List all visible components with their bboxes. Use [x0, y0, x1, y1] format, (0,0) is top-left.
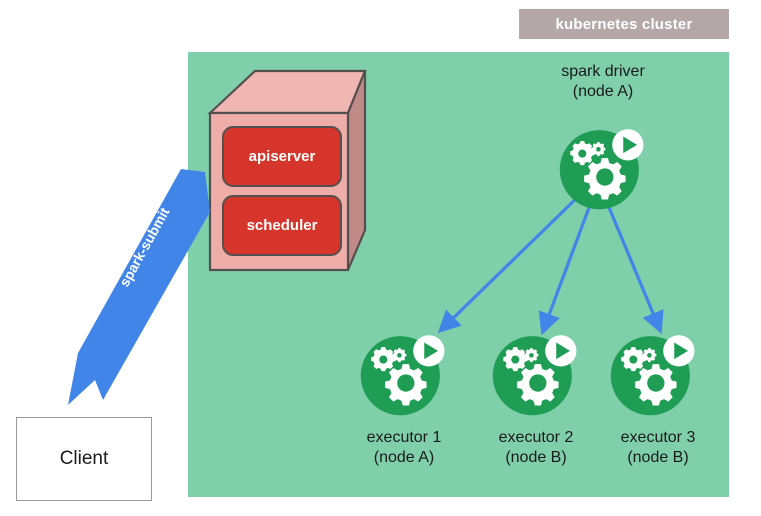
client-box[interactable]: Client — [16, 417, 152, 501]
executor-3-subtitle: (node B) — [578, 448, 738, 468]
executor-3-small-gear — [621, 347, 645, 371]
spark-driver-subtitle: (node A) — [523, 82, 683, 102]
executor-2-node[interactable] — [490, 326, 582, 418]
executor-1-small-gear — [371, 347, 395, 371]
executor-3-title: executor 3 — [578, 428, 738, 448]
driver-small-gear — [570, 141, 594, 165]
cluster-title-chip: kubernetes cluster — [519, 9, 729, 39]
spark-driver-node[interactable] — [557, 120, 649, 212]
cube-top-face — [210, 71, 365, 113]
cluster-title-label: kubernetes cluster — [556, 16, 693, 33]
executor-1-tiny-gear — [392, 348, 406, 362]
client-label: Client — [60, 448, 109, 470]
spark-driver-title: spark driver — [523, 62, 683, 82]
executor-3-caption: executor 3 (node B) — [578, 428, 738, 468]
executor-1-large-gear — [385, 364, 426, 405]
cube-front-face — [210, 113, 348, 270]
executor-2-tiny-gear — [524, 348, 538, 362]
executor-1-play-icon — [413, 335, 444, 366]
executor-2-small-gear — [503, 347, 527, 371]
executor-2-play-icon — [545, 335, 576, 366]
executor-2-large-gear — [517, 364, 558, 405]
driver-play-icon — [612, 129, 643, 160]
spark-submit-arrow[interactable] — [55, 155, 230, 415]
diagram-canvas: kubernetes cluster — [0, 0, 761, 516]
executor-3-tiny-gear — [642, 348, 656, 362]
driver-tiny-gear — [591, 142, 605, 156]
executor-1-node[interactable] — [358, 326, 450, 418]
executor-3-node[interactable] — [608, 326, 700, 418]
driver-large-gear — [584, 158, 625, 199]
spark-submit-arrow-shape — [68, 169, 210, 405]
executor-3-play-icon — [663, 335, 694, 366]
executor-3-large-gear — [635, 364, 676, 405]
spark-driver-caption: spark driver (node A) — [523, 62, 683, 102]
